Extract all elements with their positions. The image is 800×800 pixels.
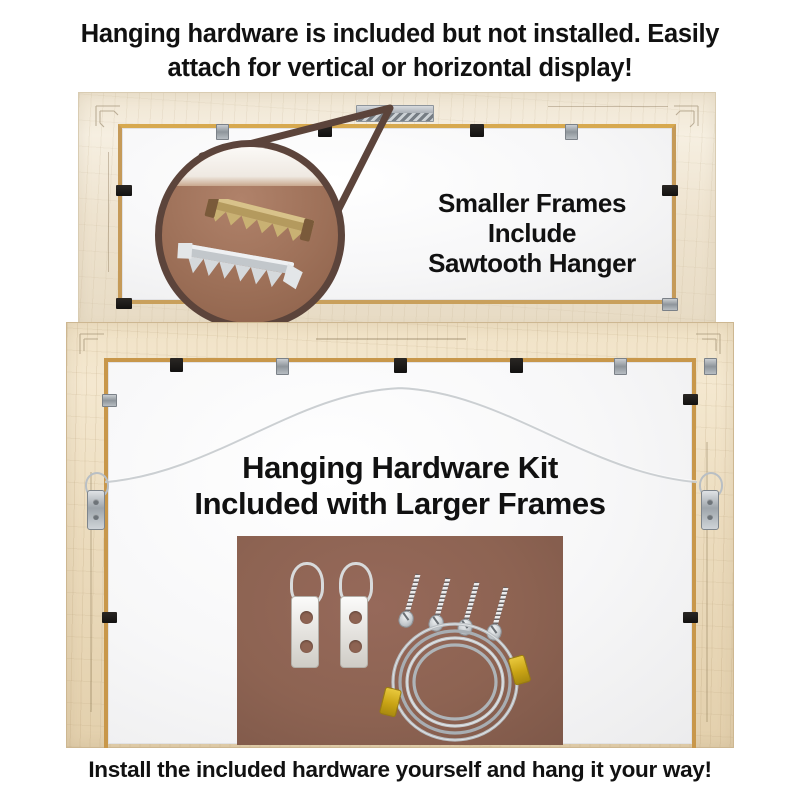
upper-frame-caption: Smaller Frames Include Sawtooth Hanger (372, 188, 692, 278)
infographic-canvas: Hanging hardware is included but not ins… (0, 0, 800, 800)
caption-line-2: Include (372, 218, 692, 248)
sawtooth-hanger-silver-icon (168, 243, 308, 299)
kit-wire-coil (385, 620, 525, 745)
d-ring-plate (291, 596, 319, 668)
frame-clip (394, 358, 407, 373)
wood-split (316, 338, 466, 340)
frame-clip (102, 612, 117, 623)
frame-clip (683, 612, 698, 623)
headline-line-1: Hanging hardware is included but not ins… (14, 18, 786, 52)
magnifier-backdrop (162, 147, 338, 186)
caption-line-3: Sawtooth Hanger (372, 248, 692, 278)
footer-text: Install the included hardware yourself a… (0, 757, 800, 783)
frame-clip (683, 394, 698, 405)
screw-hole (300, 640, 313, 653)
lower-frame-caption: Hanging Hardware Kit Included with Large… (120, 450, 680, 522)
screw-hole (300, 611, 313, 624)
frame-clip (565, 124, 578, 140)
caption-line-1: Smaller Frames (372, 188, 692, 218)
frame-clip (276, 358, 289, 375)
headline-text: Hanging hardware is included but not ins… (0, 18, 800, 85)
d-ring-plate (340, 596, 368, 668)
screw-hole (349, 640, 362, 653)
frame-clip (662, 298, 678, 311)
frame-clip (116, 185, 132, 196)
corner-wedge-icon (692, 332, 722, 358)
d-ring-plate (87, 490, 105, 530)
d-ring-hanger-right (697, 472, 721, 528)
frame-clip (510, 358, 523, 373)
corner-wedge-icon (78, 332, 108, 358)
frame-clip (170, 358, 183, 372)
d-ring-plate (701, 490, 719, 530)
sawtooth-hanger-brass-icon (198, 199, 318, 249)
wood-split (108, 152, 109, 272)
screw-shank (463, 582, 479, 624)
caption-line-2: Included with Larger Frames (120, 486, 680, 522)
caption-line-1: Hanging Hardware Kit (120, 450, 680, 486)
screw-hole (93, 514, 99, 520)
screw-shank (404, 574, 420, 616)
frame-clip (102, 394, 117, 407)
screw-hole (707, 499, 713, 505)
d-ring-hanger-left (83, 472, 107, 528)
hardware-kit-photo (237, 536, 563, 745)
screw-hole (707, 514, 713, 520)
screw-hole (93, 499, 99, 505)
frame-clip (614, 358, 627, 375)
frame-clip (704, 358, 717, 375)
headline-line-2: attach for vertical or horizontal displa… (14, 52, 786, 86)
kit-d-ring-2 (336, 562, 370, 666)
frame-clip (116, 298, 132, 309)
sawtooth-hanger-on-frame (356, 105, 434, 122)
frame-clip (318, 124, 332, 137)
magnifier-circle (155, 140, 345, 330)
sawtooth-teeth (357, 113, 433, 121)
frame-clip (216, 124, 229, 140)
kit-d-ring-1 (287, 562, 321, 666)
screw-hole (349, 611, 362, 624)
frame-clip (470, 124, 484, 137)
screw-shank (434, 578, 450, 620)
wood-split (548, 106, 668, 107)
